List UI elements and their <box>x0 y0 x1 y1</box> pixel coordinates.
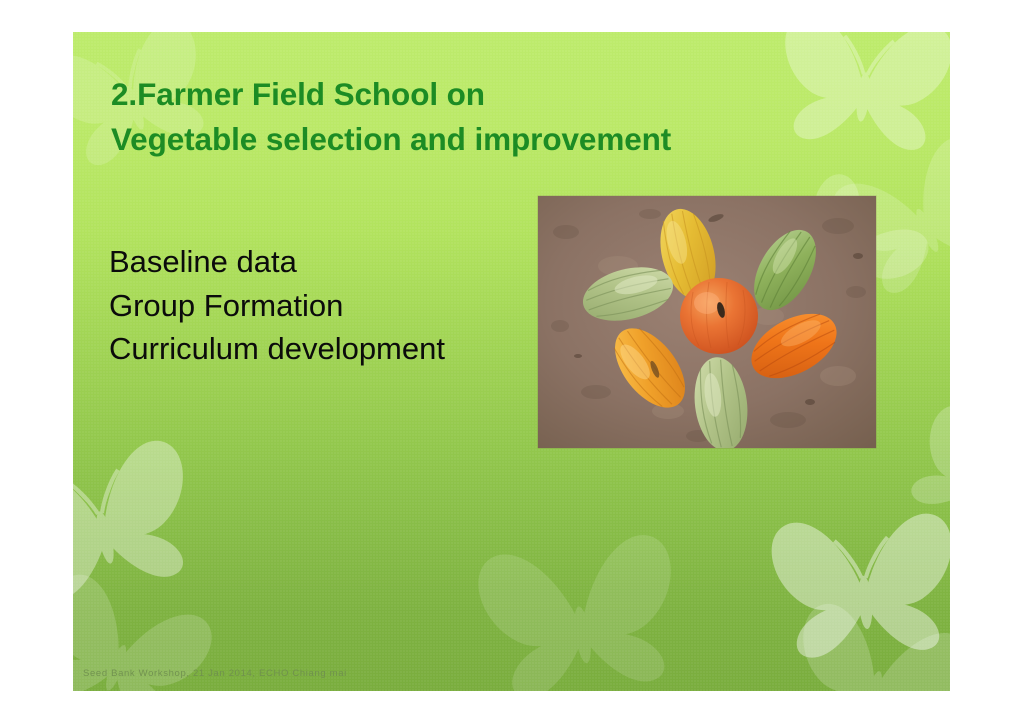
slide-title: 2.Farmer Field School on Vegetable selec… <box>111 72 891 162</box>
slide-page: 2.Farmer Field School on Vegetable selec… <box>0 0 1024 724</box>
fruit-red-center <box>680 278 758 354</box>
body-line-group-formation: Group Formation <box>109 284 579 328</box>
butterfly-icon <box>751 495 950 691</box>
slide-footer: Seed Bank Workshop, 21 Jan 2014, ECHO Ch… <box>83 668 347 679</box>
butterfly-icon <box>73 417 232 662</box>
butterfly-icon <box>865 382 950 596</box>
butterfly-icon <box>454 512 712 691</box>
slide-body: Baseline data Group Formation Curriculum… <box>109 240 579 371</box>
gourd-fruits-photo <box>538 196 876 448</box>
slide-canvas: 2.Farmer Field School on Vegetable selec… <box>73 32 950 691</box>
body-line-curriculum-development: Curriculum development <box>109 327 579 371</box>
butterfly-icon <box>753 581 950 691</box>
body-line-baseline-data: Baseline data <box>109 240 579 284</box>
